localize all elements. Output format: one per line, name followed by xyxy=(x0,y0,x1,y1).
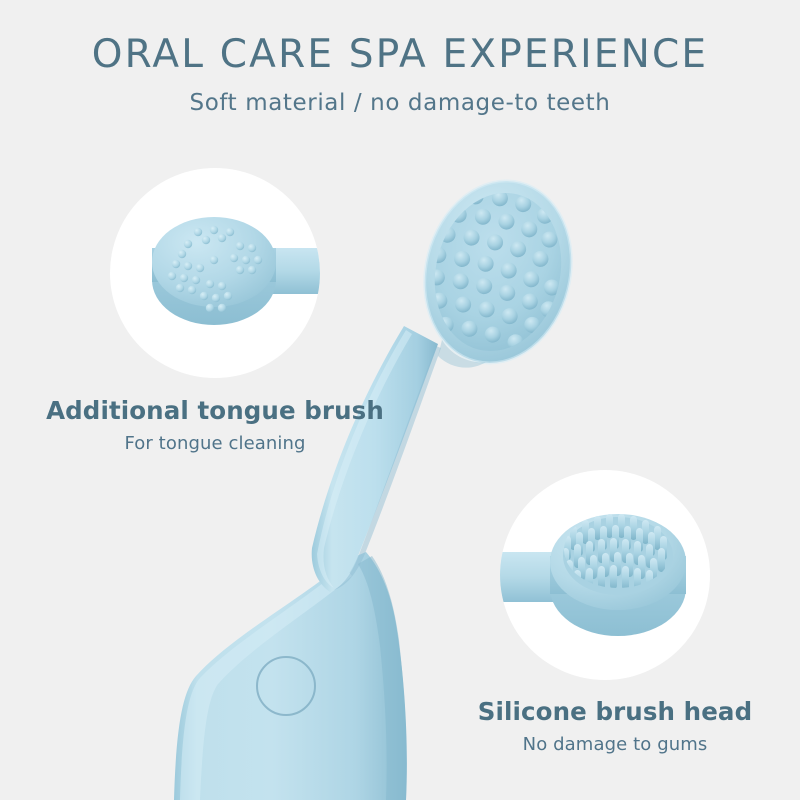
callout-circle-tongue-brush xyxy=(110,168,320,378)
callout-circle-silicone-head xyxy=(500,470,710,680)
callout-label-silicone-head: Silicone brush head No damage to gums xyxy=(410,697,800,755)
callout-title-tongue-brush: Additional tongue brush xyxy=(0,396,430,425)
callout-label-tongue-brush: Additional tongue brush For tongue clean… xyxy=(0,396,430,454)
callout-subtitle-silicone-head: No damage to gums xyxy=(410,734,800,755)
callout-subtitle-tongue-brush: For tongue cleaning xyxy=(0,433,430,454)
toothbrush-handle xyxy=(174,552,407,800)
product-marketing-image: ORAL CARE SPA EXPERIENCE Soft material /… xyxy=(0,0,800,800)
callout-title-silicone-head: Silicone brush head xyxy=(410,697,800,726)
toothbrush-shaft xyxy=(312,326,441,592)
